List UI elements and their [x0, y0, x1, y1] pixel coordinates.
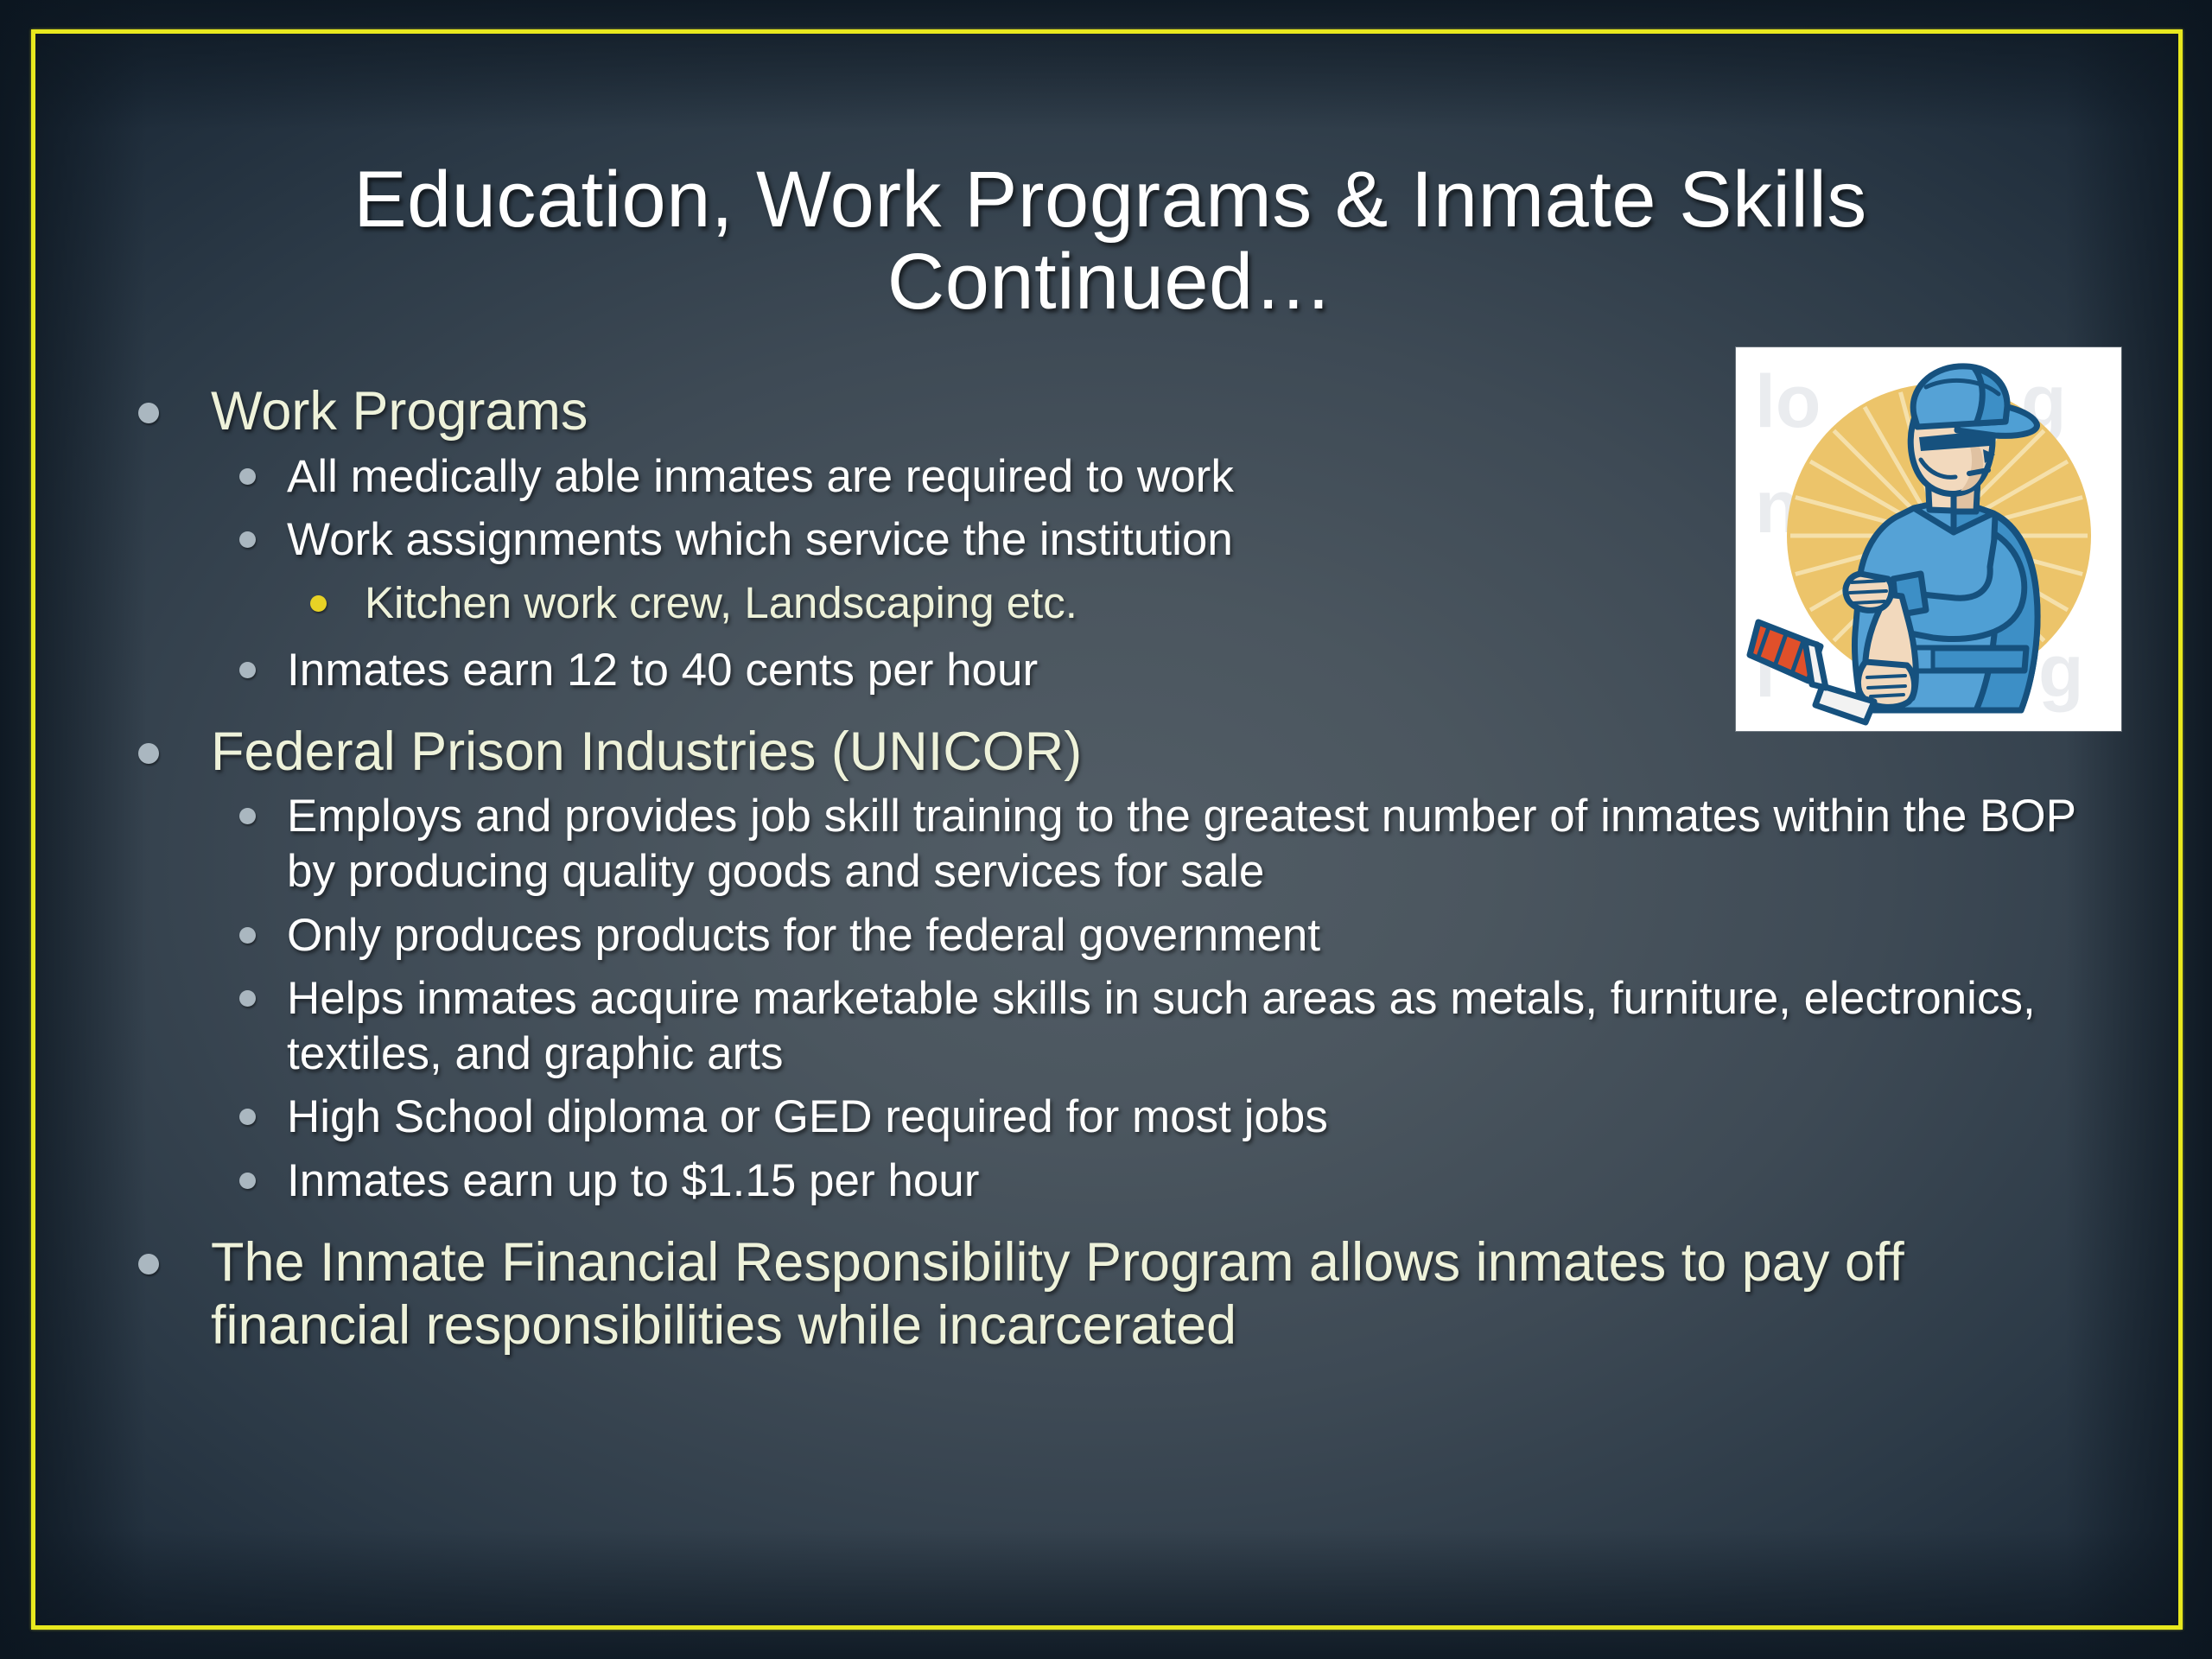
- bullet-text: All medically able inmates are required …: [287, 449, 2108, 505]
- bullet-all-medically-able: All medically able inmates are required …: [121, 449, 2108, 505]
- slide-title: Education, Work Programs & Inmate Skills…: [130, 159, 2091, 324]
- bullet-employs-job-skill-training: Employs and provides job skill training …: [121, 789, 2108, 899]
- bullet-only-federal-government: Only produces products for the federal g…: [121, 908, 2108, 963]
- slide-body-bullet-list: Work ProgramsAll medically able inmates …: [121, 380, 2108, 1363]
- bullet-inmate-financial-responsibility: The Inmate Financial Responsibility Prog…: [121, 1231, 2108, 1358]
- bullet-kitchen-landscaping: Kitchen work crew, Landscaping etc.: [121, 576, 2108, 629]
- presentation-slide: Education, Work Programs & Inmate Skills…: [0, 0, 2212, 1659]
- bullet-marker-level-2-icon: [239, 808, 256, 824]
- bullet-federal-prison-industries: Federal Prison Industries (UNICOR): [121, 721, 2108, 785]
- bullet-text: The Inmate Financial Responsibility Prog…: [211, 1231, 2108, 1358]
- bullet-marketable-skills: Helps inmates acquire marketable skills …: [121, 971, 2108, 1081]
- bullet-marker-level-2-icon: [239, 1173, 256, 1189]
- bullet-marker-level-2-icon: [239, 531, 256, 548]
- bullet-marker-level-1-icon: [138, 403, 159, 423]
- bullet-marker-level-2-icon: [239, 1109, 256, 1125]
- bullet-marker-level-2-icon: [239, 468, 256, 485]
- bullet-text: Employs and provides job skill training …: [287, 789, 2108, 899]
- bullet-text: Only produces products for the federal g…: [287, 908, 2108, 963]
- bullet-marker-level-1-icon: [138, 1254, 159, 1274]
- bullet-text: Helps inmates acquire marketable skills …: [287, 971, 2108, 1081]
- bullet-marker-level-3-icon: [310, 595, 327, 612]
- bullet-earn-12-to-40-cents: Inmates earn 12 to 40 cents per hour: [121, 643, 2108, 698]
- bullet-earn-up-to-115: Inmates earn up to $1.15 per hour: [121, 1154, 2108, 1209]
- bullet-text: Inmates earn up to $1.15 per hour: [287, 1154, 2108, 1209]
- bullet-work-programs: Work Programs: [121, 380, 2108, 444]
- bullet-text: Work Programs: [211, 380, 2108, 444]
- bullet-text: Inmates earn 12 to 40 cents per hour: [287, 643, 2108, 698]
- bullet-text: Work assignments which service the insti…: [287, 512, 2108, 568]
- bullet-high-school-ged: High School diploma or GED required for …: [121, 1090, 2108, 1145]
- bullet-text: Federal Prison Industries (UNICOR): [211, 721, 2108, 785]
- bullet-marker-level-1-icon: [138, 743, 159, 764]
- bullet-text: High School diploma or GED required for …: [287, 1090, 2108, 1145]
- bullet-marker-level-2-icon: [239, 927, 256, 944]
- bullet-marker-level-2-icon: [239, 990, 256, 1007]
- bullet-text: Kitchen work crew, Landscaping etc.: [365, 576, 2108, 629]
- bullet-marker-level-2-icon: [239, 662, 256, 678]
- bullet-work-assignments: Work assignments which service the insti…: [121, 512, 2108, 568]
